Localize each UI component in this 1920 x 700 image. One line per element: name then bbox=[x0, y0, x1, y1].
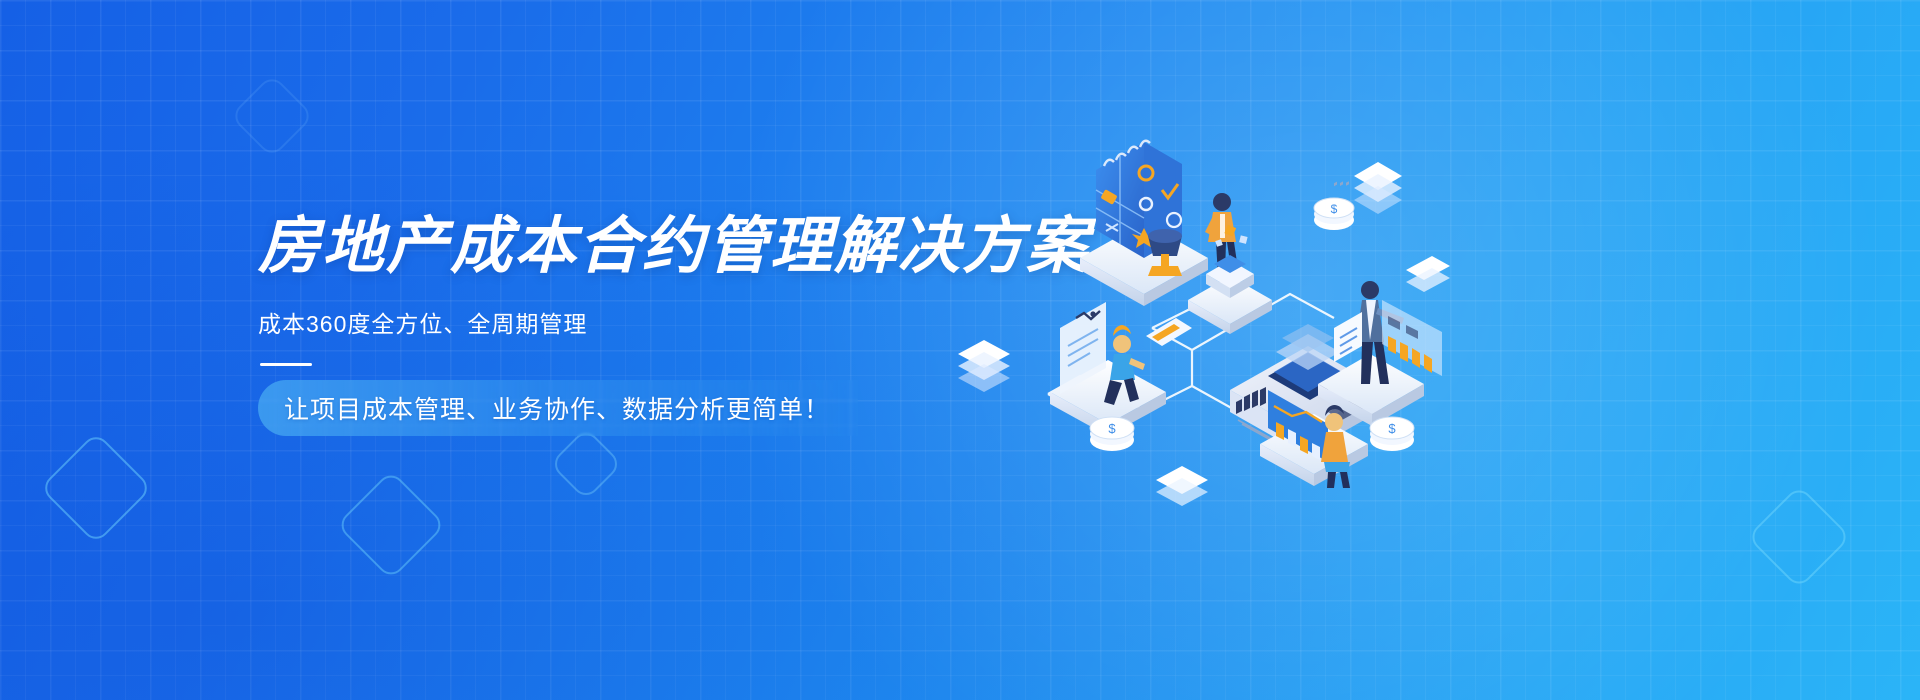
page-subtitle: 成本360度全方位、全周期管理 bbox=[258, 305, 1018, 339]
dollar-coin: $ bbox=[1314, 198, 1354, 230]
decorative-diamond-icon bbox=[39, 431, 152, 544]
hero-copy-block: 房地产成本合约管理解决方案 成本360度全方位、全周期管理 bbox=[258, 214, 1018, 366]
tagline-text: 让项目成本管理、业务协作、数据分析更简单！ bbox=[284, 390, 830, 426]
bar-chart-panel bbox=[1382, 300, 1442, 376]
title-divider bbox=[260, 363, 312, 366]
decorative-diamond-icon bbox=[1747, 485, 1852, 590]
tablet-card bbox=[1146, 318, 1192, 346]
trophy-cup bbox=[1148, 229, 1182, 276]
svg-text:$: $ bbox=[1108, 421, 1116, 436]
svg-text:$: $ bbox=[1388, 421, 1396, 436]
page-title: 房地产成本合约管理解决方案 bbox=[258, 214, 1018, 279]
stacked-layers bbox=[1354, 162, 1402, 214]
decorative-diamond-icon bbox=[230, 74, 315, 159]
decorative-diamond-icon bbox=[336, 470, 446, 580]
hero-illustration: $ $ $ bbox=[930, 140, 1450, 500]
svg-text:$: $ bbox=[1331, 202, 1338, 216]
dollar-coin: $ bbox=[1090, 417, 1134, 451]
stacked-layers bbox=[1156, 466, 1208, 506]
note-card bbox=[1334, 312, 1362, 362]
dollar-coin: $ bbox=[1370, 417, 1414, 451]
hero-banner: 房地产成本合约管理解决方案 成本360度全方位、全周期管理 让项目成本管理、业务… bbox=[0, 0, 1920, 700]
tagline-pill: 让项目成本管理、业务协作、数据分析更简单！ bbox=[258, 380, 858, 436]
stacked-layers bbox=[1406, 256, 1450, 292]
stacked-layers bbox=[958, 340, 1010, 392]
decorative-diamond-icon bbox=[549, 427, 623, 501]
